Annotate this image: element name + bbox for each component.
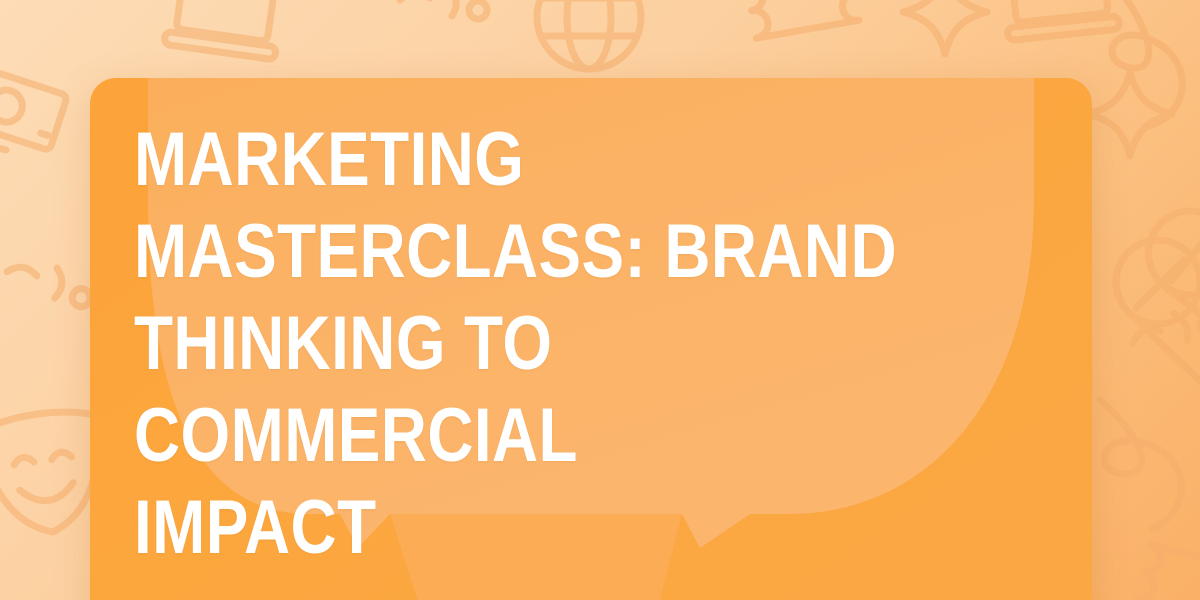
laptop-icon — [1000, 0, 1119, 41]
confetti-icon — [400, 0, 487, 19]
microphone-icon — [1144, 205, 1200, 371]
confetti-icon — [1128, 300, 1200, 361]
ticket-icon — [747, 0, 859, 38]
balloon-icon — [1116, 240, 1200, 396]
event-banner: MARKETING MASTERCLASS: BRAND THINKING TO… — [0, 0, 1200, 600]
laptop-icon — [164, 0, 286, 60]
confetti-icon — [3, 258, 95, 308]
streamer-swirl-icon — [1083, 400, 1192, 532]
ticket-icon — [1136, 544, 1200, 600]
banknote-icon — [0, 62, 68, 151]
sparkle-icon — [903, 0, 987, 54]
streamer-swirl-icon — [0, 37, 6, 182]
card-content: MARKETING MASTERCLASS: BRAND THINKING TO… — [90, 78, 1092, 600]
streamer-swirl-icon — [1079, 0, 1200, 135]
event-card[interactable]: MARKETING MASTERCLASS: BRAND THINKING TO… — [90, 78, 1092, 600]
sparkle-icon — [1088, 72, 1172, 156]
event-title: MARKETING MASTERCLASS: BRAND THINKING TO… — [134, 114, 902, 574]
globe-icon — [537, 0, 641, 69]
